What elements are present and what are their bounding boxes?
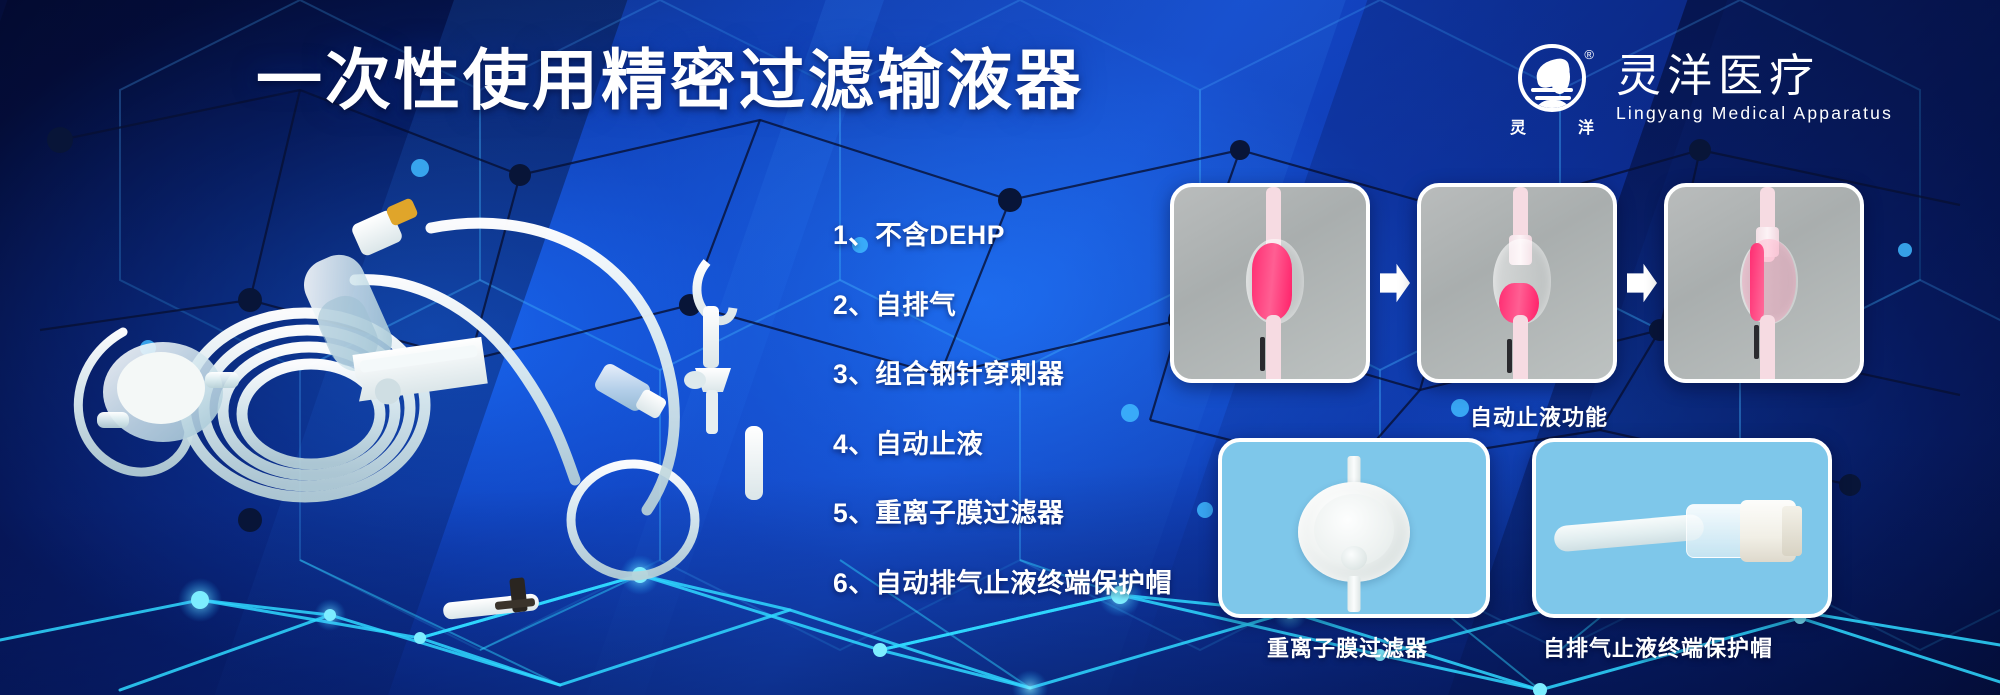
feature-item-1: 1、不含DEHP: [833, 222, 1172, 249]
banner-title: 一次性使用精密过滤输液器: [256, 47, 1084, 113]
tube-lower: [1266, 315, 1281, 383]
caption-protection-cap: 自排气止液终端保护帽: [1543, 631, 1773, 663]
product-banner: 一次性使用精密过滤输液器 ® 灵 洋 灵洋医疗 Lingyang Medical…: [0, 0, 2000, 695]
feature-list: 1、不含DEHP 2、自排气 3、组合钢针穿刺器 4、自动止液 5、重离子膜过滤…: [833, 222, 1172, 596]
emblem-circle: [1518, 44, 1586, 112]
emblem-char-left: 灵: [1510, 114, 1526, 138]
tube-clamp: [1260, 337, 1265, 371]
feature-item-3: 3、组合钢针穿刺器: [833, 361, 1172, 388]
feature-item-5: 5、重离子膜过滤器: [833, 500, 1172, 527]
emblem-char-right: 洋: [1578, 114, 1594, 138]
demo-step-photo-1: [1170, 183, 1370, 383]
emblem-caption: 灵 洋: [1510, 114, 1594, 138]
filter-outlet-nub: [1348, 576, 1361, 612]
registered-mark: ®: [1584, 48, 1594, 61]
feature-item-6: 6、自动排气止液终端保护帽: [833, 570, 1172, 597]
company-name-en: Lingyang Medical Apparatus: [1616, 103, 1893, 124]
tube-lower: [1513, 315, 1528, 383]
emblem-hill: [1534, 100, 1572, 112]
emblem-wave-1: [1531, 88, 1573, 92]
company-name-cn: 灵洋医疗: [1616, 52, 1893, 99]
feature-item-4: 4、自动止液: [833, 431, 1172, 458]
feature-item-2: 2、自排气: [833, 292, 1172, 319]
detail-photo-protection-cap: [1532, 438, 1832, 618]
fluid-level-full: [1252, 243, 1292, 321]
demo-step-photo-3: [1664, 183, 1864, 383]
product-photo: [55, 180, 775, 650]
detail-photo-filter: [1218, 438, 1490, 618]
caption-filter: 重离子膜过滤器: [1267, 631, 1428, 663]
cap-tubing: [1553, 514, 1705, 553]
filter-outlet-port: [1341, 546, 1367, 570]
lingyang-emblem-icon: ® 灵 洋: [1510, 42, 1594, 134]
tube-clamp: [1754, 325, 1759, 359]
tube-lower: [1760, 315, 1775, 383]
cap-clear-housing: [1686, 504, 1748, 558]
brand-logo: ® 灵 洋 灵洋医疗 Lingyang Medical Apparatus: [1510, 42, 1893, 134]
fluid-level-empty: [1750, 243, 1764, 321]
brand-text-block: 灵洋医疗 Lingyang Medical Apparatus: [1616, 52, 1893, 124]
caption-auto-stop: 自动止液功能: [1470, 400, 1608, 432]
cap-luer-mouth: [1782, 506, 1802, 556]
tube-clamp: [1507, 339, 1512, 373]
demo-step-photo-2: [1417, 183, 1617, 383]
